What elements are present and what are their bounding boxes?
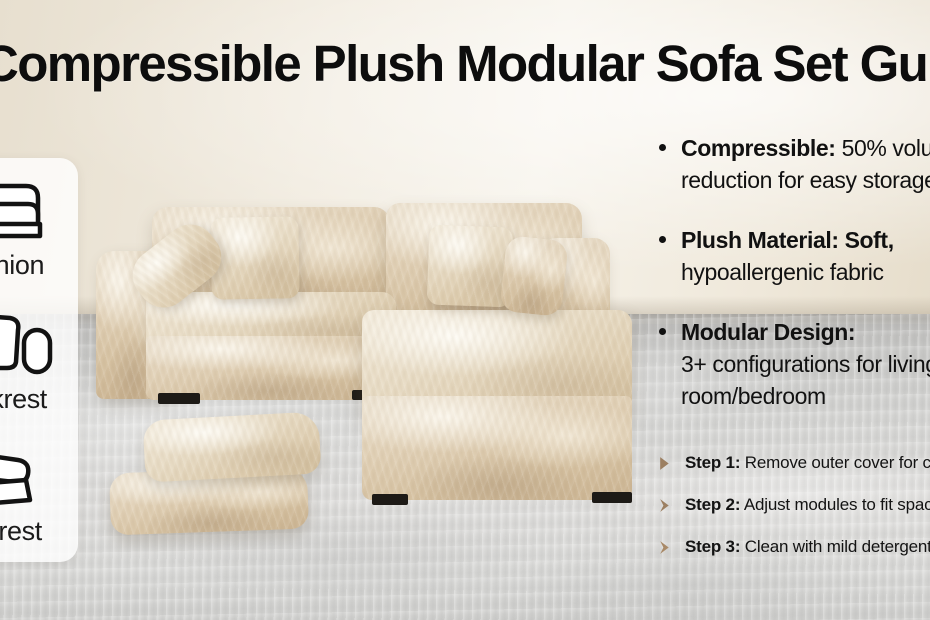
sofa-chaise-front: [362, 396, 632, 500]
bullet-dot-icon: [659, 236, 666, 243]
parts-legend-panel: Cushion Backrest Armrest: [0, 158, 78, 562]
feature-line2-modular-design: 3+ configurations for living: [681, 348, 930, 380]
parts-legend-item-armrest[interactable]: Armrest: [0, 430, 78, 547]
step-item-3: Step 3: Clean with mild detergent: [657, 536, 930, 558]
parts-legend-item-cushion[interactable]: Cushion: [0, 164, 78, 281]
step-label-2: Step 2:: [685, 495, 740, 514]
step-text-2: Adjust modules to fit space: [740, 495, 930, 514]
step-text-3: Clean with mild detergent: [740, 537, 930, 556]
parts-legend-item-backrest[interactable]: Backrest: [0, 298, 78, 415]
infographic-canvas: Compressible Plush Modular Sofa Set Guid…: [0, 0, 930, 620]
sofa-backrest-icon: [0, 298, 78, 386]
throw-pillow-bolster-right: [499, 235, 569, 317]
step-label-1: Step 1:: [685, 453, 740, 472]
parts-legend-label-armrest: Armrest: [0, 516, 78, 547]
feature-line3-modular-design: room/bedroom: [681, 380, 930, 412]
feature-label-compressible: Compressible:: [681, 135, 836, 161]
chevron-right-icon: [657, 539, 674, 556]
page-title: Compressible Plush Modular Sofa Set Guid…: [0, 34, 930, 93]
sofa-leg-left-front: [158, 393, 200, 404]
sofa-armrest-icon: [0, 430, 78, 518]
step-item-1: Step 1: Remove outer cover for cleaning: [657, 452, 930, 474]
step-item-2: Step 2: Adjust modules to fit space: [657, 494, 930, 516]
sofa-leg-chaise-right: [592, 492, 632, 503]
feature-item-plush-material: Plush Material: Soft, hypoallergenic fab…: [655, 224, 930, 288]
feature-line2-plush-material: hypoallergenic fabric: [681, 256, 930, 288]
bullet-dot-icon: [659, 328, 666, 335]
parts-legend-label-backrest: Backrest: [0, 384, 78, 415]
step-text-1: Remove outer cover for cleaning: [740, 453, 930, 472]
feature-label-plush-material: Plush Material: Soft,: [681, 227, 894, 253]
feature-value-compressible: 50% volume: [836, 135, 930, 161]
step-label-3: Step 3:: [685, 537, 740, 556]
sofa-cushion-icon: [0, 164, 78, 252]
arrow-right-icon: [657, 455, 674, 472]
parts-legend-label-cushion: Cushion: [0, 250, 78, 281]
bullet-dot-icon: [659, 144, 666, 151]
feature-item-compressible: Compressible: 50% volume reduction for e…: [655, 132, 930, 196]
sofa-leg-chaise-left: [372, 494, 408, 505]
feature-label-modular-design: Modular Design:: [681, 319, 855, 345]
feature-item-modular-design: Modular Design: 3+ configurations for li…: [655, 316, 930, 412]
floor-cushion-top: [142, 411, 321, 482]
feature-list: Compressible: 50% volume reduction for e…: [655, 132, 930, 440]
steps-list: Step 1: Remove outer cover for cleaning …: [657, 452, 930, 578]
chevron-right-icon: [657, 497, 674, 514]
throw-pillow-square-center: [210, 216, 299, 300]
feature-line2-compressible: reduction for easy storage: [681, 164, 930, 196]
